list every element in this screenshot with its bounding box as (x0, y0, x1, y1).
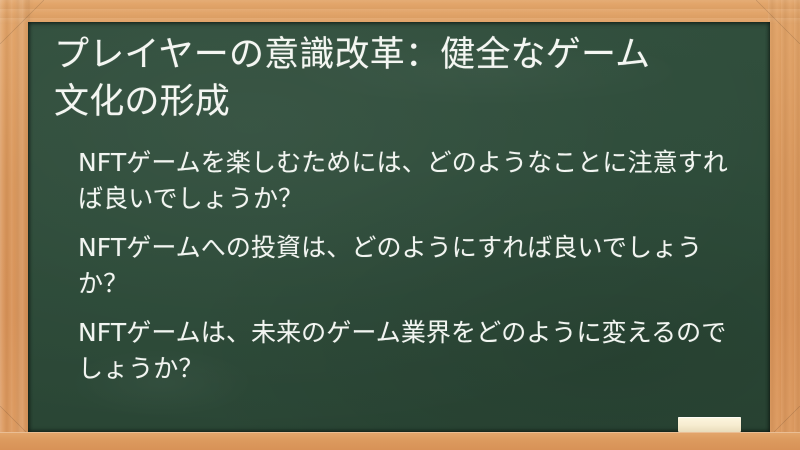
chalkboard: プレイヤーの意識改革：健全なゲーム 文化の形成 NFTゲームを楽しむためには、ど… (28, 22, 770, 432)
list-item: NFTゲームを楽しむためには、どのようなことに注意すれば良いでしょうか？ (78, 145, 738, 216)
frame-grain-left (0, 0, 30, 450)
frame-grain-right (768, 0, 800, 450)
chalk-ledge (0, 432, 800, 450)
slide-root: プレイヤーの意識改革：健全なゲーム 文化の形成 NFTゲームを楽しむためには、ど… (0, 0, 800, 450)
list-item: NFTゲームへの投資は、どのようにすれば良いでしょうか？ (78, 230, 738, 301)
slide-title: プレイヤーの意識改革：健全なゲーム 文化の形成 (54, 28, 744, 125)
chalkboard-content: プレイヤーの意識改革：健全なゲーム 文化の形成 NFTゲームを楽しむためには、ど… (28, 22, 770, 432)
question-list: NFTゲームを楽しむためには、どのようなことに注意すれば良いでしょうか？ NFT… (54, 145, 744, 386)
chalk-stick-icon (678, 417, 741, 432)
frame-grain-top (0, 0, 800, 24)
list-item: NFTゲームは、未来のゲーム業界をどのように変えるのでしょうか？ (78, 315, 738, 386)
